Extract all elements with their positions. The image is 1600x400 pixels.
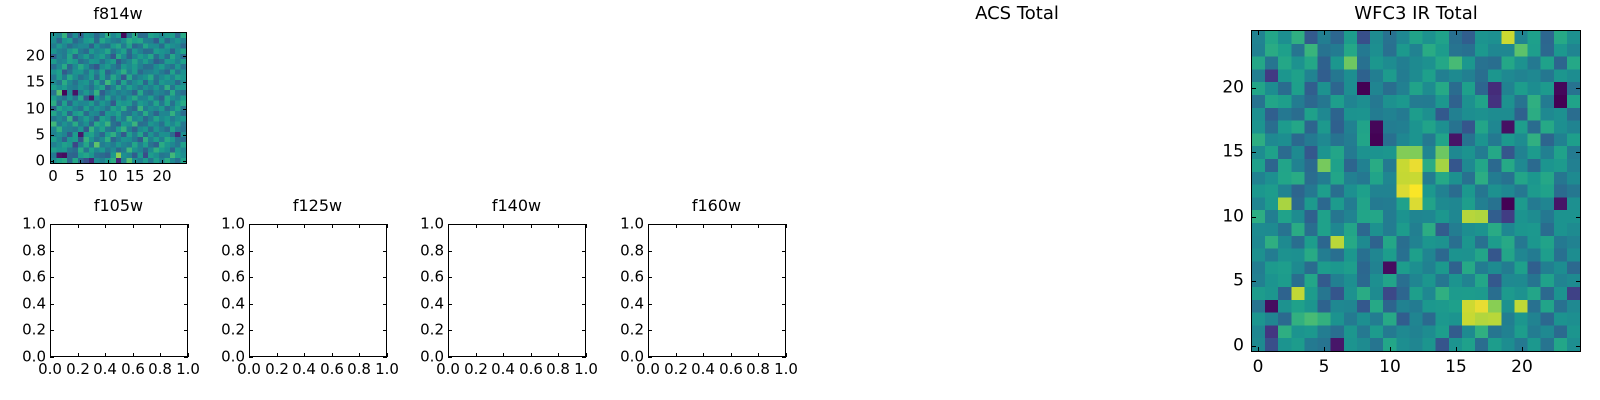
y-tick-label: 10 — [1222, 209, 1244, 226]
x-tick-label: 0.8 — [746, 362, 770, 377]
x-tick-label: 0.2 — [664, 362, 688, 377]
x-tick-mark — [1258, 30, 1259, 35]
x-tick-mark — [758, 224, 759, 228]
y-tick-mark — [383, 357, 387, 358]
y-tick-mark — [1576, 152, 1581, 153]
y-tick-mark — [249, 330, 253, 331]
x-tick-mark — [133, 353, 134, 357]
x-tick-mark — [1324, 347, 1325, 352]
y-tick-mark — [448, 304, 452, 305]
x-tick-mark — [387, 224, 388, 228]
y-tick-mark — [582, 304, 586, 305]
x-tick-mark — [476, 353, 477, 357]
y-tick-mark — [448, 277, 452, 278]
y-tick-label: 0.6 — [620, 270, 644, 285]
y-tick-mark — [50, 251, 54, 252]
x-tick-mark — [786, 353, 787, 357]
x-tick-mark — [558, 353, 559, 357]
y-tick-mark — [50, 224, 54, 225]
x-tick-label: 20 — [1511, 359, 1533, 376]
y-tick-mark — [383, 224, 387, 225]
y-tick-mark — [582, 224, 586, 225]
x-tick-mark — [188, 224, 189, 228]
x-tick-mark — [1324, 30, 1325, 35]
x-tick-mark — [359, 353, 360, 357]
x-tick-mark — [1390, 30, 1391, 35]
y-tick-label: 0.6 — [420, 270, 444, 285]
y-tick-mark — [50, 304, 54, 305]
y-tick-mark — [184, 224, 188, 225]
x-tick-mark — [703, 353, 704, 357]
x-tick-mark — [703, 224, 704, 228]
y-tick-mark — [448, 330, 452, 331]
y-tick-label: 0.0 — [620, 350, 644, 365]
x-tick-mark — [676, 353, 677, 357]
y-tick-mark — [50, 277, 54, 278]
y-tick-mark — [1576, 281, 1581, 282]
x-tick-mark — [304, 353, 305, 357]
x-tick-mark — [304, 224, 305, 228]
y-tick-mark — [648, 357, 652, 358]
y-tick-mark — [184, 277, 188, 278]
x-tick-mark — [1390, 347, 1391, 352]
x-tick-mark — [277, 353, 278, 357]
heatmap-image-wfc3-ir-total — [1252, 31, 1580, 351]
x-tick-mark — [332, 224, 333, 228]
y-tick-mark — [249, 357, 253, 358]
y-tick-mark — [448, 357, 452, 358]
x-tick-label: 0.4 — [691, 362, 715, 377]
x-tick-mark — [160, 224, 161, 228]
axes-f125w[interactable] — [249, 224, 387, 357]
x-tick-mark — [78, 224, 79, 228]
y-tick-mark — [782, 304, 786, 305]
x-tick-label: 1.0 — [774, 362, 798, 377]
x-tick-mark — [1522, 30, 1523, 35]
y-tick-mark — [383, 330, 387, 331]
y-tick-label: 0.2 — [420, 323, 444, 338]
axes-f105w[interactable] — [50, 224, 188, 357]
panel-f140w: f140w 0.00.20.40.60.81.00.00.20.40.60.81… — [398, 0, 598, 400]
x-tick-label: 0.4 — [93, 362, 117, 377]
y-tick-mark — [582, 330, 586, 331]
y-tick-mark — [50, 357, 54, 358]
y-tick-mark — [249, 224, 253, 225]
y-tick-mark — [782, 277, 786, 278]
x-tick-label: 1.0 — [176, 362, 200, 377]
x-tick-mark — [160, 353, 161, 357]
y-tick-mark — [1251, 217, 1256, 218]
x-tick-mark — [503, 224, 504, 228]
y-tick-mark — [383, 277, 387, 278]
panel-title-acs-total: ACS Total — [852, 5, 1182, 23]
y-tick-mark — [1251, 88, 1256, 89]
x-tick-label: 1.0 — [574, 362, 598, 377]
y-tick-label: 0.4 — [620, 297, 644, 312]
x-tick-label: 0.8 — [546, 362, 570, 377]
y-tick-label: 0.8 — [420, 244, 444, 259]
x-tick-mark — [531, 353, 532, 357]
y-tick-label: 0.6 — [221, 270, 245, 285]
y-tick-mark — [1576, 346, 1581, 347]
y-tick-label: 0.8 — [22, 244, 46, 259]
x-tick-mark — [105, 224, 106, 228]
panel-f160w: f160w 0.00.20.40.60.81.00.00.20.40.60.81… — [598, 0, 798, 400]
y-tick-label: 1.0 — [221, 217, 245, 232]
panel-acs-total: ACS Total 0510152005101520 — [800, 0, 1200, 400]
x-tick-mark — [676, 224, 677, 228]
y-tick-label: 0.2 — [620, 323, 644, 338]
y-tick-mark — [448, 251, 452, 252]
x-tick-mark — [105, 353, 106, 357]
x-tick-mark — [586, 353, 587, 357]
x-tick-mark — [731, 353, 732, 357]
x-tick-label: 0.8 — [347, 362, 371, 377]
x-tick-mark — [476, 224, 477, 228]
y-tick-label: 0.2 — [22, 323, 46, 338]
y-tick-mark — [648, 224, 652, 225]
x-tick-mark — [1258, 347, 1259, 352]
x-tick-mark — [78, 353, 79, 357]
y-tick-label: 0.4 — [22, 297, 46, 312]
y-tick-mark — [582, 251, 586, 252]
matplotlib-figure: f814w 0510152005101520 f105w 0.00.20.40.… — [0, 0, 1600, 400]
x-tick-label: 0.2 — [265, 362, 289, 377]
y-tick-mark — [383, 251, 387, 252]
y-tick-label: 1.0 — [620, 217, 644, 232]
axes-f140w[interactable] — [448, 224, 586, 357]
y-tick-mark — [1251, 281, 1256, 282]
y-tick-label: 0.0 — [221, 350, 245, 365]
y-tick-mark — [1251, 346, 1256, 347]
panel-wfc3-ir-total: WFC3 IR Total 0510152005101520 — [1199, 0, 1600, 400]
y-tick-mark — [582, 357, 586, 358]
y-tick-label: 5 — [1233, 273, 1244, 290]
y-tick-mark — [184, 251, 188, 252]
x-tick-label: 0.4 — [292, 362, 316, 377]
x-tick-label: 0.6 — [320, 362, 344, 377]
y-tick-label: 15 — [1222, 144, 1244, 161]
x-tick-label: 0 — [1253, 359, 1264, 376]
x-tick-label: 0.2 — [66, 362, 90, 377]
y-tick-label: 0.4 — [420, 297, 444, 312]
y-tick-label: 0.6 — [22, 270, 46, 285]
y-tick-mark — [782, 357, 786, 358]
x-tick-mark — [1456, 30, 1457, 35]
x-tick-mark — [133, 224, 134, 228]
panel-title-wfc3-ir-total: WFC3 IR Total — [1251, 5, 1581, 23]
x-tick-mark — [586, 224, 587, 228]
x-tick-mark — [188, 353, 189, 357]
y-tick-label: 0 — [1233, 338, 1244, 355]
x-tick-label: 0.4 — [491, 362, 515, 377]
y-tick-mark — [249, 251, 253, 252]
y-tick-label: 0.8 — [221, 244, 245, 259]
x-tick-label: 0.8 — [148, 362, 172, 377]
x-tick-label: 0.6 — [121, 362, 145, 377]
panel-f105w: f105w 0.00.20.40.60.81.00.00.20.40.60.81… — [0, 0, 200, 400]
y-tick-label: 0.8 — [620, 244, 644, 259]
x-tick-mark — [387, 353, 388, 357]
x-tick-label: 0.6 — [719, 362, 743, 377]
y-tick-mark — [383, 304, 387, 305]
x-tick-label: 15 — [1445, 359, 1467, 376]
y-tick-mark — [184, 330, 188, 331]
x-tick-label: 1.0 — [375, 362, 399, 377]
y-tick-mark — [1576, 217, 1581, 218]
x-tick-mark — [786, 224, 787, 228]
axes-f160w[interactable] — [648, 224, 786, 357]
y-tick-mark — [184, 357, 188, 358]
x-tick-mark — [558, 224, 559, 228]
y-tick-label: 0.0 — [22, 350, 46, 365]
y-tick-mark — [448, 224, 452, 225]
y-tick-mark — [582, 277, 586, 278]
y-tick-mark — [50, 330, 54, 331]
y-tick-mark — [782, 251, 786, 252]
x-tick-mark — [1522, 347, 1523, 352]
y-tick-mark — [1576, 88, 1581, 89]
y-tick-label: 0.0 — [420, 350, 444, 365]
y-tick-mark — [1251, 152, 1256, 153]
x-tick-mark — [277, 224, 278, 228]
x-tick-mark — [503, 353, 504, 357]
y-tick-mark — [782, 330, 786, 331]
y-tick-mark — [184, 304, 188, 305]
x-tick-label: 10 — [1379, 359, 1401, 376]
x-tick-mark — [359, 224, 360, 228]
y-tick-mark — [782, 224, 786, 225]
y-tick-mark — [648, 277, 652, 278]
y-tick-mark — [648, 251, 652, 252]
x-tick-label: 5 — [1319, 359, 1330, 376]
y-tick-mark — [249, 304, 253, 305]
x-tick-mark — [332, 353, 333, 357]
y-tick-label: 0.2 — [221, 323, 245, 338]
axes-wfc3-ir-total[interactable] — [1251, 30, 1581, 352]
y-tick-label: 1.0 — [420, 217, 444, 232]
y-tick-label: 20 — [1222, 80, 1244, 97]
y-tick-mark — [648, 330, 652, 331]
y-tick-mark — [249, 277, 253, 278]
x-tick-mark — [1456, 347, 1457, 352]
y-tick-label: 1.0 — [22, 217, 46, 232]
panel-f125w: f125w 0.00.20.40.60.81.00.00.20.40.60.81… — [199, 0, 399, 400]
y-tick-label: 0.4 — [221, 297, 245, 312]
x-tick-mark — [758, 353, 759, 357]
x-tick-mark — [731, 224, 732, 228]
x-tick-label: 0.6 — [519, 362, 543, 377]
x-tick-label: 0.2 — [464, 362, 488, 377]
x-tick-mark — [531, 224, 532, 228]
y-tick-mark — [648, 304, 652, 305]
